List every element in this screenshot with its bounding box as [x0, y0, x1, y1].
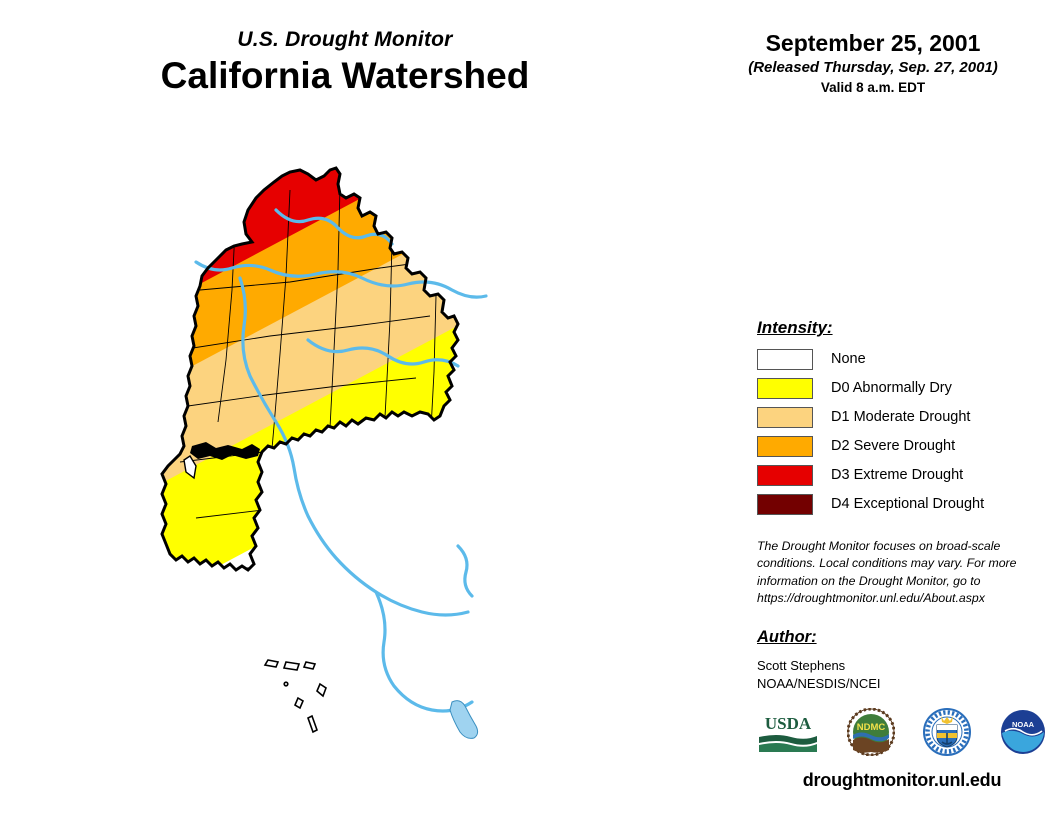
channel-islands — [265, 660, 326, 732]
author-heading: Author: — [757, 628, 1037, 647]
legend-item-d1[interactable]: D1 Moderate Drought — [757, 405, 1047, 430]
release-date: (Released Thursday, Sep. 27, 2001) — [690, 59, 1056, 77]
legend-item-d4[interactable]: D4 Exceptional Drought — [757, 492, 1047, 517]
drought-band-none-arc — [140, 653, 640, 800]
map-drought-layers — [140, 150, 640, 800]
disclaimer-text: The Drought Monitor focuses on broad-sca… — [757, 538, 1025, 608]
svg-text:USDA: USDA — [765, 714, 812, 733]
usda-logo[interactable]: USDA — [757, 709, 819, 760]
legend-item-none[interactable]: None — [757, 347, 1047, 372]
legend-swatch-d2 — [757, 436, 813, 457]
legend-title: Intensity: — [757, 318, 1047, 338]
legend-swatch-d0 — [757, 378, 813, 399]
unl-seal-logo[interactable] — [923, 708, 971, 761]
salton-sea-water-body — [450, 701, 478, 739]
footer-url[interactable]: droughtmonitor.unl.edu — [757, 770, 1047, 791]
legend-item-d2[interactable]: D2 Severe Drought — [757, 434, 1047, 459]
page-subtitle: U.S. Drought Monitor — [0, 28, 690, 51]
svg-text:NDMC: NDMC — [857, 722, 886, 733]
date-block: September 25, 2001 (Released Thursday, S… — [690, 30, 1056, 97]
author-name: Scott Stephens — [757, 657, 1037, 675]
legend-item-d3[interactable]: D3 Extreme Drought — [757, 463, 1047, 488]
legend-label-d2: D2 Severe Drought — [831, 439, 955, 454]
partner-logos: USDA NDMC — [757, 706, 1047, 762]
legend-swatch-none — [757, 349, 813, 370]
valid-time: Valid 8 a.m. EDT — [690, 80, 1056, 96]
svg-text:NOAA: NOAA — [1012, 720, 1035, 729]
legend-label-d4: D4 Exceptional Drought — [831, 497, 984, 512]
valid-date: September 25, 2001 — [690, 30, 1056, 56]
legend-label-none: None — [831, 352, 866, 367]
title-block: U.S. Drought Monitor California Watershe… — [0, 28, 690, 98]
noaa-logo[interactable]: NOAA — [999, 708, 1047, 761]
intensity-legend: Intensity: None D0 Abnormally Dry D1 Mod… — [757, 318, 1047, 521]
legend-label-d1: D1 Moderate Drought — [831, 410, 970, 425]
legend-label-d3: D3 Extreme Drought — [831, 468, 963, 483]
author-affiliation: NOAA/NESDIS/NCEI — [757, 675, 1037, 693]
legend-swatch-d4 — [757, 494, 813, 515]
legend-label-d0: D0 Abnormally Dry — [831, 381, 952, 396]
drought-monitor-map-page: U.S. Drought Monitor California Watershe… — [0, 0, 1056, 816]
legend-swatch-d3 — [757, 465, 813, 486]
author-block: Author: Scott Stephens NOAA/NESDIS/NCEI — [757, 628, 1037, 692]
page-title: California Watershed — [0, 55, 690, 98]
california-watershed-map[interactable] — [140, 150, 640, 800]
legend-swatch-d1 — [757, 407, 813, 428]
ndmc-logo[interactable]: NDMC — [847, 708, 895, 761]
legend-item-d0[interactable]: D0 Abnormally Dry — [757, 376, 1047, 401]
